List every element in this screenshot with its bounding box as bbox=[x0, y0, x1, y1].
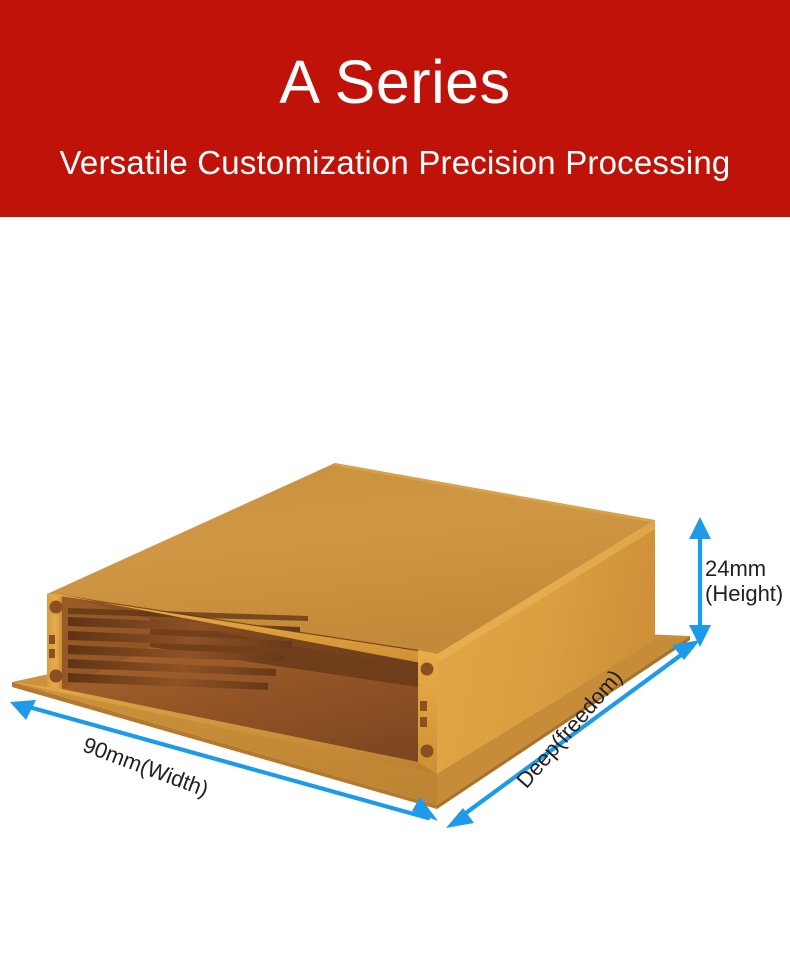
page-subtitle: Versatile Customization Precision Proces… bbox=[60, 146, 731, 179]
product-image-stage: 24mm (Height) 90mm(Width) Deep(freedom) bbox=[0, 217, 790, 954]
height-arrow-head-top bbox=[689, 517, 711, 539]
profile-notch bbox=[420, 717, 427, 727]
height-value: 24mm bbox=[705, 557, 783, 582]
screw-boss-notch bbox=[421, 663, 434, 676]
profile-notch bbox=[49, 635, 55, 644]
screw-boss-notch bbox=[50, 601, 63, 614]
profile-notch bbox=[49, 649, 55, 658]
header-banner: A Series Versatile Customization Precisi… bbox=[0, 0, 790, 217]
height-caption: (Height) bbox=[705, 582, 783, 607]
profile-notch bbox=[420, 701, 427, 711]
page-title: A Series bbox=[279, 52, 510, 113]
screw-boss-notch bbox=[421, 745, 434, 758]
screw-boss-notch bbox=[50, 670, 63, 683]
product-illustration bbox=[0, 217, 790, 954]
height-dimension-label: 24mm (Height) bbox=[705, 557, 783, 606]
